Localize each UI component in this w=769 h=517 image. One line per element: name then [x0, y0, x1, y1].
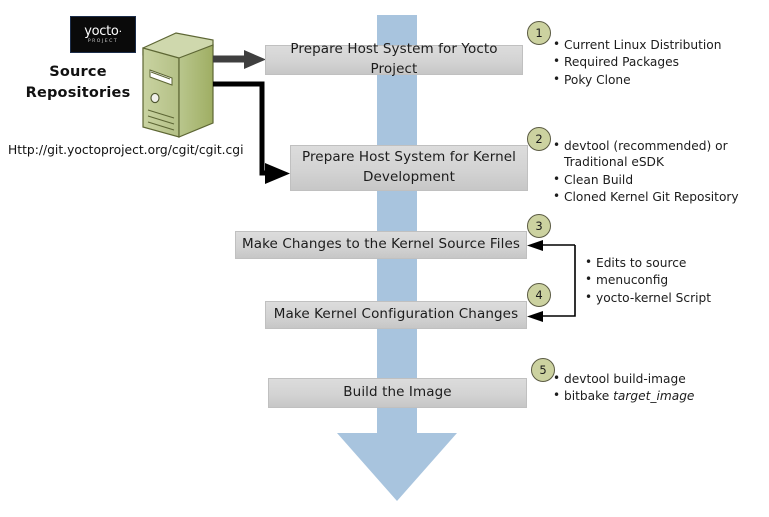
step-number-badge-4: 4: [527, 283, 551, 307]
process-box-step-2[interactable]: Prepare Host System for Kernel Developme…: [290, 145, 528, 191]
notes-step-2: devtool (recommended) or Traditional eSD…: [551, 138, 739, 207]
main-flow-arrow-head: [337, 433, 457, 501]
step-number-badge-2-value: 2: [535, 132, 542, 146]
list-item: Clean Build: [564, 172, 739, 188]
notes-step-2-list: devtool (recommended) or Traditional eSD…: [551, 138, 739, 206]
connector-steps-3-4-bracket: [527, 240, 575, 322]
step-number-badge-3-value: 3: [535, 219, 542, 233]
notes-step-1: Current Linux Distribution Required Pack…: [551, 37, 721, 89]
list-item-bitbake: bitbake target_image: [564, 388, 694, 404]
process-box-step-3[interactable]: Make Changes to the Kernel Source Files: [235, 231, 527, 259]
list-item: Edits to source: [596, 255, 711, 271]
notes-step-5: devtool build-image bitbake target_image: [551, 371, 694, 406]
list-item: Current Linux Distribution: [564, 37, 721, 53]
process-box-step-4-label: Make Kernel Configuration Changes: [274, 305, 518, 325]
process-box-step-4[interactable]: Make Kernel Configuration Changes: [265, 301, 527, 329]
process-box-step-2-label: Prepare Host System for Kernel Developme…: [302, 148, 516, 187]
connector-server-to-step1: [213, 50, 266, 69]
source-repositories-url: Http://git.yoctoproject.org/cgit/cgit.cg…: [8, 143, 244, 157]
notes-steps-3-and-4-list: Edits to source menuconfig yocto-kernel …: [583, 255, 711, 306]
list-item: Poky Clone: [564, 72, 721, 88]
step-number-badge-5-value: 5: [539, 363, 546, 377]
bitbake-keyword: bitbake: [564, 389, 613, 403]
source-repositories-label: Source Repositories: [18, 62, 138, 104]
yocto-logo-subtext: PROJECT: [88, 39, 118, 45]
notes-steps-3-and-4: Edits to source menuconfig yocto-kernel …: [583, 255, 711, 307]
step-number-badge-1: 1: [527, 21, 551, 45]
step-number-badge-2: 2: [527, 127, 551, 151]
notes-step-1-list: Current Linux Distribution Required Pack…: [551, 37, 721, 88]
process-box-step-5[interactable]: Build the Image: [268, 378, 527, 408]
step-number-badge-4-value: 4: [535, 288, 542, 302]
process-box-step-5-label: Build the Image: [343, 383, 451, 403]
workflow-diagram: yocto· PROJECT Source Repositories Http:…: [0, 0, 769, 517]
list-item: Required Packages: [564, 54, 721, 70]
notes-step-5-list: devtool build-image bitbake target_image: [551, 371, 694, 405]
list-item: devtool (recommended) or Traditional eSD…: [564, 138, 739, 171]
list-item: menuconfig: [596, 272, 711, 288]
list-item: Cloned Kernel Git Repository: [564, 189, 739, 205]
connector-server-to-step2: [213, 84, 290, 184]
process-box-step-1-label: Prepare Host System for Yocto Project: [266, 40, 522, 79]
yocto-logo-wordmark: yocto·: [84, 25, 122, 38]
target-image-variable: target_image: [613, 389, 694, 403]
step-number-badge-3: 3: [527, 214, 551, 238]
yocto-project-logo: yocto· PROJECT: [70, 16, 136, 53]
yocto-logo-text: yocto: [84, 24, 118, 39]
list-item: yocto-kernel Script: [596, 290, 711, 306]
process-box-step-1[interactable]: Prepare Host System for Yocto Project: [265, 45, 523, 75]
list-item: devtool build-image: [564, 371, 694, 387]
step-number-badge-1-value: 1: [535, 26, 542, 40]
process-box-step-3-label: Make Changes to the Kernel Source Files: [242, 235, 520, 255]
yocto-logo-dot: ·: [119, 25, 122, 38]
server-tower-icon: [143, 33, 213, 137]
